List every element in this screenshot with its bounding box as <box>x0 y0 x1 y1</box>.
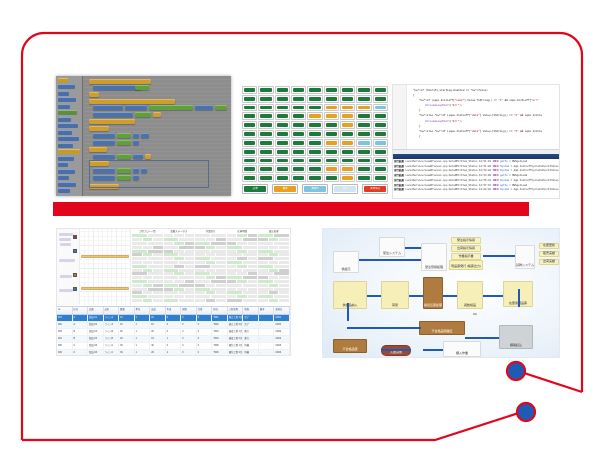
status-cell[interactable] <box>373 104 388 112</box>
status-cell[interactable] <box>275 157 290 165</box>
tree-marker[interactable] <box>73 287 77 291</box>
list-cell <box>279 261 289 264</box>
flow-node-putaway[interactable]: 棚入作業 <box>443 341 481 357</box>
status-cell[interactable] <box>275 95 290 103</box>
status-cell[interactable] <box>373 148 388 156</box>
status-cell[interactable] <box>242 86 257 94</box>
status-cell[interactable] <box>324 86 339 94</box>
flow-node-supplier[interactable]: 供給元 <box>333 251 359 273</box>
code-editor-panel[interactable]: "kw">if (bVerify_startLog.Enabled == "kw… <box>392 84 560 199</box>
legend-item-error: 異常停止 <box>362 184 388 194</box>
status-cell[interactable] <box>356 121 371 129</box>
table-cell: - <box>259 322 275 328</box>
list-row <box>164 272 195 275</box>
status-cell[interactable] <box>356 165 371 173</box>
status-cell[interactable] <box>340 174 355 182</box>
status-cell[interactable] <box>242 121 257 129</box>
table-body[interactable]: 001A製品-01ラインA10110000T001組立工程 1次完了-04/01… <box>57 315 290 355</box>
flow-node-label: 不合格品庫 <box>342 348 357 351</box>
status-cell[interactable] <box>324 130 339 138</box>
list-cell <box>153 269 163 272</box>
status-cell[interactable] <box>324 165 339 173</box>
list-cell <box>211 257 226 260</box>
list-cell <box>185 272 195 275</box>
table-cell: 製品-03 <box>88 329 104 335</box>
list-cell <box>248 234 258 237</box>
status-cell-fill <box>326 167 337 171</box>
code-text-area[interactable]: "kw">if (bVerify_startLog.Enabled == "kw… <box>393 85 559 149</box>
status-cell[interactable] <box>258 121 273 129</box>
status-cell-fill <box>260 97 271 101</box>
palette-block[interactable] <box>58 97 76 102</box>
list-cell <box>237 288 247 291</box>
code-block[interactable] <box>93 140 115 145</box>
table-column-header[interactable]: 良品 <box>150 307 166 314</box>
list-cell <box>258 257 273 260</box>
table-cell: 1 <box>135 336 151 342</box>
list-cell <box>227 250 237 253</box>
status-cell-fill <box>293 150 304 154</box>
status-cell[interactable] <box>340 130 355 138</box>
palette-block[interactable] <box>58 91 69 96</box>
flow-node-inspect-doc[interactable]: 検収伝票処理 <box>423 277 443 309</box>
status-cell-fill <box>309 132 320 136</box>
status-cell[interactable] <box>340 148 355 156</box>
legend-item-label: 警告 <box>274 186 296 192</box>
status-cell[interactable] <box>291 112 306 120</box>
list-row <box>164 269 195 272</box>
tree-marker[interactable] <box>73 273 77 277</box>
status-cell-fill <box>358 159 369 163</box>
status-cell[interactable] <box>340 121 355 129</box>
status-cell[interactable] <box>307 165 322 173</box>
table-column-header[interactable]: 品番 <box>88 307 104 314</box>
table-column-header[interactable]: 保留 <box>181 307 197 314</box>
status-cell[interactable] <box>291 165 306 173</box>
status-cell[interactable] <box>258 157 273 165</box>
status-cell[interactable] <box>373 165 388 173</box>
palette-block[interactable] <box>58 143 73 148</box>
status-cell[interactable] <box>291 174 306 182</box>
code-block[interactable] <box>153 112 161 117</box>
flow-node-note-3[interactable]: 作業指示書 <box>451 253 481 260</box>
status-cell[interactable] <box>340 165 355 173</box>
status-cell[interactable] <box>258 86 273 94</box>
flow-node-label: 供給元 <box>341 268 350 271</box>
code-block[interactable] <box>93 154 115 159</box>
tree-node[interactable] <box>60 275 72 278</box>
status-cell[interactable] <box>307 104 322 112</box>
status-cell[interactable] <box>307 148 322 156</box>
flow-node-scan-in[interactable]: 棚番読込 <box>499 325 533 349</box>
code-block[interactable] <box>93 105 123 110</box>
status-cell[interactable] <box>275 139 290 147</box>
table-row[interactable]: 002A製品-02ラインA10110000T002組立工程 2次完了-04/01 <box>57 322 290 329</box>
status-cell[interactable] <box>258 165 273 173</box>
status-cell-fill <box>277 150 288 154</box>
palette-block[interactable] <box>58 175 69 180</box>
table-cell: 組立工程 2次 <box>228 322 244 328</box>
flow-node-label: 在庫更新 <box>543 244 555 247</box>
palette-block[interactable] <box>58 117 71 122</box>
list-cell <box>243 238 258 241</box>
status-cell[interactable] <box>307 86 322 94</box>
data-table[interactable]: №区分品番品名数量単位良品不良保留仕掛担当工程名称状態備考更新日 001A製品-… <box>57 306 290 355</box>
code-block[interactable] <box>89 147 107 152</box>
status-cell[interactable] <box>291 121 306 129</box>
status-cell[interactable] <box>275 165 290 173</box>
status-cell[interactable] <box>275 148 290 156</box>
flowchart-panel[interactable]: 供給元受注システム受注登録処理発注指示情報出荷指示情報作業指示書現品票発行 (帳… <box>322 228 560 358</box>
list-row <box>227 234 258 237</box>
status-cell[interactable] <box>242 112 257 120</box>
status-cell[interactable] <box>258 112 273 120</box>
code-block[interactable] <box>125 105 147 110</box>
list-cell <box>153 246 163 249</box>
tree-marker[interactable] <box>73 235 77 239</box>
status-cell[interactable] <box>373 86 388 94</box>
flow-node-reject-area[interactable]: 不合格品隔離区 <box>419 321 465 335</box>
status-cell-fill <box>244 114 255 118</box>
status-grid[interactable] <box>242 86 388 182</box>
list-row <box>132 257 163 260</box>
status-cell[interactable] <box>324 157 339 165</box>
table-cell: ラインA <box>104 315 120 321</box>
status-cell[interactable] <box>307 130 322 138</box>
palette-block[interactable] <box>58 149 80 154</box>
code-block[interactable] <box>117 133 131 138</box>
status-cell[interactable] <box>340 104 355 112</box>
code-block[interactable] <box>135 112 151 117</box>
tree-node[interactable] <box>59 259 75 262</box>
code-block[interactable] <box>215 105 227 110</box>
code-block[interactable] <box>93 133 115 138</box>
flow-node-note-7[interactable]: 出荷実績 <box>539 259 559 265</box>
accent-dot-lower <box>517 403 535 421</box>
list-row <box>132 246 163 249</box>
flow-node-note-5[interactable]: 在庫更新 <box>539 243 559 249</box>
block-selection-outline <box>89 160 209 188</box>
palette-block[interactable] <box>58 156 74 161</box>
palette-block[interactable] <box>58 195 77 197</box>
list-row <box>195 276 226 279</box>
flow-node-reject-stock[interactable]: 不合格品庫 <box>333 339 367 353</box>
list-cell <box>195 291 205 294</box>
list-row <box>164 261 195 264</box>
status-cell[interactable] <box>242 104 257 112</box>
status-cell[interactable] <box>242 139 257 147</box>
status-cell[interactable] <box>291 139 306 147</box>
list-cell <box>206 284 216 287</box>
list-cell <box>248 257 258 260</box>
list-cell <box>179 261 194 264</box>
status-cell[interactable] <box>258 174 273 182</box>
status-cell[interactable] <box>242 157 257 165</box>
table-column-header[interactable]: 更新日 <box>274 307 290 314</box>
list-cell <box>227 295 237 298</box>
flow-node-delivery[interactable]: 供給品納入 <box>333 281 367 309</box>
flow-node-note-2[interactable]: 出荷指示情報 <box>451 245 481 252</box>
status-cell[interactable] <box>307 121 322 129</box>
list-cell <box>132 280 147 283</box>
list-cell <box>258 269 268 272</box>
table-row[interactable]: 001A製品-01ラインA10110000T001組立工程 1次完了-04/01 <box>57 315 290 322</box>
status-cell[interactable] <box>324 112 339 120</box>
status-cell[interactable] <box>324 104 339 112</box>
blocks-editor-panel[interactable] <box>56 76 231 196</box>
palette-block[interactable] <box>58 123 78 128</box>
status-cell[interactable] <box>291 157 306 165</box>
status-cell[interactable] <box>291 104 306 112</box>
status-cell[interactable] <box>258 104 273 112</box>
status-cell[interactable] <box>356 104 371 112</box>
code-block[interactable] <box>93 112 133 117</box>
list-cell <box>148 272 163 275</box>
status-cell[interactable] <box>324 174 339 182</box>
palette-block[interactable] <box>58 110 77 115</box>
table-cell: 04/02 <box>274 336 290 342</box>
list-row <box>132 250 163 253</box>
status-cell[interactable] <box>373 130 388 138</box>
code-block[interactable] <box>195 105 213 110</box>
status-cell[interactable] <box>356 112 371 120</box>
status-cell[interactable] <box>373 174 388 182</box>
code-block[interactable] <box>149 105 193 110</box>
palette-block[interactable] <box>58 169 75 174</box>
status-cell[interactable] <box>356 86 371 94</box>
table-cell: 10 <box>119 322 135 328</box>
process-tree[interactable] <box>57 229 80 305</box>
list-row <box>258 238 289 241</box>
status-cell-fill <box>342 114 353 118</box>
table-column-header[interactable]: 数量 <box>119 307 135 314</box>
status-cell[interactable] <box>291 86 306 94</box>
flow-node-unload[interactable]: 荷受 <box>381 281 409 309</box>
code-block[interactable] <box>133 140 139 145</box>
status-cell[interactable] <box>291 148 306 156</box>
tree-node[interactable] <box>59 289 73 292</box>
status-cell[interactable] <box>307 174 322 182</box>
table-cell: 30 <box>150 343 166 349</box>
status-cell[interactable] <box>324 148 339 156</box>
list-cell <box>269 291 279 294</box>
table-cell: 梱包工程 1次 <box>228 343 244 349</box>
status-cell[interactable] <box>242 95 257 103</box>
status-cell[interactable] <box>258 95 273 103</box>
table-cell: 0 <box>166 322 182 328</box>
status-cell[interactable] <box>356 174 371 182</box>
tree-node[interactable] <box>60 243 71 246</box>
status-cell[interactable] <box>373 121 388 129</box>
gantt-bar[interactable] <box>81 255 129 258</box>
list-cell <box>132 253 142 256</box>
list-cell <box>143 299 153 302</box>
list-row <box>132 242 163 245</box>
code-block[interactable] <box>117 154 131 159</box>
palette-block[interactable] <box>58 130 72 135</box>
code-block[interactable] <box>117 140 131 145</box>
status-cell[interactable] <box>307 139 322 147</box>
flow-node-host[interactable]: 基幹システム <box>515 245 535 269</box>
status-cell[interactable] <box>340 95 355 103</box>
status-cell[interactable] <box>275 112 290 120</box>
list-cell <box>195 265 210 268</box>
code-block[interactable] <box>89 126 109 131</box>
list-cell <box>143 276 153 279</box>
table-row[interactable]: 006C製品-06ラインC30128200T006梱包工程 2次待機-04/03 <box>57 350 290 355</box>
list-row <box>227 261 258 264</box>
flow-node-order-system[interactable]: 受注システム <box>379 237 405 257</box>
code-block[interactable] <box>89 92 99 97</box>
status-cell[interactable] <box>275 104 290 112</box>
table-column-header[interactable]: 単位 <box>135 307 151 314</box>
list-cell <box>148 234 163 237</box>
list-row <box>132 269 163 272</box>
table-column-header[interactable]: 仕掛 <box>197 307 213 314</box>
list-cell <box>274 257 289 260</box>
list-cell <box>269 261 279 264</box>
code-block[interactable] <box>89 79 151 84</box>
status-cell[interactable] <box>340 112 355 120</box>
palette-block[interactable] <box>58 84 75 89</box>
status-cell[interactable] <box>356 139 371 147</box>
flow-node-label: 棚番読込 <box>510 344 522 347</box>
gantt-bar[interactable] <box>81 287 129 290</box>
gantt-grid[interactable] <box>80 229 131 305</box>
status-cell[interactable] <box>275 121 290 129</box>
palette-block[interactable] <box>58 104 70 109</box>
flow-node-order-entry[interactable]: 受注登録処理 <box>421 243 447 271</box>
code-block[interactable] <box>93 85 141 90</box>
blocks-palette[interactable] <box>56 76 83 196</box>
table-column-header[interactable]: 工程名称 <box>228 307 244 314</box>
status-cell[interactable] <box>373 95 388 103</box>
flow-node-label: 販売実績 <box>543 252 555 255</box>
status-cell[interactable] <box>291 95 306 103</box>
table-row[interactable]: 003B製品-03ラインB20120000T003検査工程 1次進行-04/02 <box>57 329 290 336</box>
table-column-header[interactable]: 不良 <box>166 307 182 314</box>
table-column-header[interactable]: 品名 <box>104 307 120 314</box>
blocks-canvas[interactable] <box>83 76 231 196</box>
list-cell <box>148 265 163 268</box>
status-cell[interactable] <box>258 130 273 138</box>
status-cell[interactable] <box>307 112 322 120</box>
tree-marker[interactable] <box>73 249 77 253</box>
table-cell: 30 <box>119 343 135 349</box>
tree-node[interactable] <box>59 233 73 236</box>
console-log-row[interactable]: 実行結果 LocalService/LoadProcess.cpp:AutoRP… <box>394 188 559 193</box>
list-row <box>164 288 195 291</box>
status-cell-fill <box>358 88 369 92</box>
list-cell <box>195 280 210 283</box>
code-block[interactable] <box>133 133 139 138</box>
tree-node[interactable] <box>59 238 71 241</box>
status-cell[interactable] <box>356 148 371 156</box>
status-cell[interactable] <box>258 148 273 156</box>
status-cell[interactable] <box>291 130 306 138</box>
palette-block[interactable] <box>58 188 70 193</box>
status-cell[interactable] <box>340 86 355 94</box>
status-cell[interactable] <box>242 165 257 173</box>
flow-node-qty-check[interactable]: 員数検品 <box>457 281 483 309</box>
console-output[interactable]: 実行結果 LocalService/LoadProcess.cpp:AutoRP… <box>393 159 559 198</box>
flow-node-label: 入庫完成 <box>390 351 402 354</box>
palette-block[interactable] <box>58 78 68 83</box>
list-cell <box>258 288 273 291</box>
list-cell <box>274 288 289 291</box>
palette-block[interactable] <box>58 182 76 187</box>
palette-block[interactable] <box>58 162 68 167</box>
status-cell-fill <box>309 159 320 163</box>
table-column-header[interactable]: 担当 <box>212 307 228 314</box>
code-block[interactable] <box>145 154 151 159</box>
code-block[interactable] <box>89 99 175 104</box>
status-cell[interactable] <box>373 157 388 165</box>
status-cell[interactable] <box>340 157 355 165</box>
list-row <box>258 295 289 298</box>
status-cell[interactable] <box>275 174 290 182</box>
status-cell[interactable] <box>275 86 290 94</box>
status-cell[interactable] <box>307 157 322 165</box>
code-block[interactable] <box>89 119 135 124</box>
table-row[interactable]: 004B製品-04ラインB20119100T004検査工程 2次進行-04/02 <box>57 336 290 343</box>
status-cell[interactable] <box>275 130 290 138</box>
table-cell: 04/03 <box>274 343 290 349</box>
flow-node-note-4[interactable]: 現品票発行 (帳票出力) <box>449 260 483 270</box>
status-cell[interactable] <box>307 95 322 103</box>
spreadsheet-panel[interactable]: 工程フロー一覧設備ステータス作業指示在庫明細集計結果 №区分品番品名数量単位良品… <box>56 228 291 356</box>
status-cell[interactable] <box>373 139 388 147</box>
table-cell: - <box>259 336 275 342</box>
status-cell[interactable] <box>242 148 257 156</box>
code-block[interactable] <box>141 133 149 138</box>
table-column-header[interactable]: № <box>57 307 73 314</box>
flow-node-note-1[interactable]: 発注指示情報 <box>451 237 481 244</box>
flow-arrow <box>409 295 423 297</box>
status-board-panel[interactable]: 正常警告保留中空き異常停止 <box>240 84 390 199</box>
flow-node-label: 供給品納入 <box>342 304 357 307</box>
table-column-header[interactable]: 備考 <box>259 307 275 314</box>
list-cell <box>211 234 226 237</box>
status-cell[interactable] <box>373 112 388 120</box>
status-cell[interactable] <box>340 139 355 147</box>
status-cell[interactable] <box>242 174 257 182</box>
table-row[interactable]: 005C製品-05ラインC30130000T005梱包工程 1次待機-04/03 <box>57 343 290 350</box>
status-cell-fill <box>326 97 337 101</box>
console-log-row[interactable]: 実行結果 LocalService/LoadProcess.cpp:AutoRP… <box>394 179 559 184</box>
table-column-header[interactable]: 区分 <box>73 307 89 314</box>
table-column-header[interactable]: 状態 <box>243 307 259 314</box>
list-cell <box>195 253 205 256</box>
code-block[interactable] <box>135 85 149 90</box>
status-cell[interactable] <box>242 130 257 138</box>
status-cell[interactable] <box>324 121 339 129</box>
status-cell[interactable] <box>356 130 371 138</box>
status-cell-fill <box>244 106 255 110</box>
status-cell[interactable] <box>324 95 339 103</box>
list-row <box>195 280 226 283</box>
table-cell: 30 <box>119 350 135 355</box>
list-cell <box>227 269 242 272</box>
palette-block[interactable] <box>58 136 79 141</box>
status-cell[interactable] <box>324 139 339 147</box>
list-cell <box>216 291 226 294</box>
status-cell[interactable] <box>356 157 371 165</box>
flow-node-note-6[interactable]: 販売実績 <box>539 251 559 257</box>
status-cell[interactable] <box>356 95 371 103</box>
code-block[interactable] <box>133 154 143 159</box>
status-cell[interactable] <box>258 139 273 147</box>
